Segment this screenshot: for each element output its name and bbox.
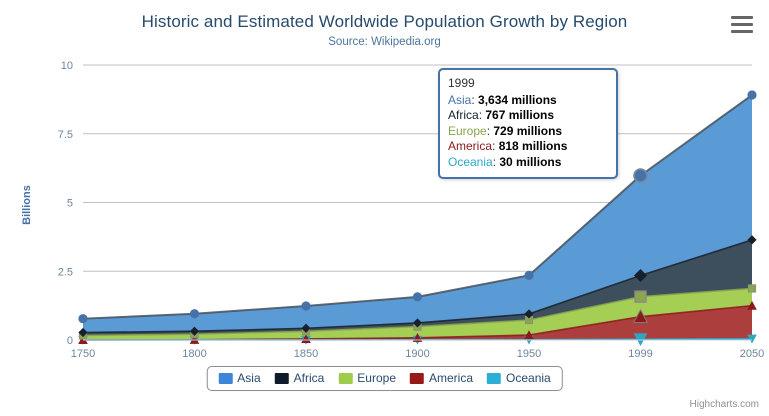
- tooltip-row: Europe: 729 millions: [448, 124, 608, 140]
- tooltip-series-name: Africa: [448, 108, 479, 122]
- x-axis-tick-label: 1999: [628, 348, 652, 360]
- legend-item-america[interactable]: America: [410, 371, 473, 385]
- y-axis-tick-label: 10: [61, 60, 73, 72]
- data-point-europe[interactable]: [635, 291, 646, 302]
- data-point-asia[interactable]: [301, 301, 310, 310]
- tooltip-rows: Asia: 3,634 millionsAfrica: 767 millions…: [448, 93, 608, 171]
- data-point-asia[interactable]: [78, 314, 87, 323]
- tooltip-series-name: America: [448, 139, 492, 153]
- x-axis-tick-label: 1800: [182, 348, 206, 360]
- legend-item-label: Europe: [357, 371, 396, 385]
- legend-item-label: Asia: [237, 371, 260, 385]
- tooltip-row: America: 818 millions: [448, 139, 608, 155]
- legend-swatch-icon: [218, 373, 232, 384]
- x-axis-tick-label: 1950: [517, 348, 541, 360]
- legend-item-asia[interactable]: Asia: [218, 371, 260, 385]
- data-point-asia[interactable]: [634, 169, 647, 182]
- legend-item-oceania[interactable]: Oceania: [487, 371, 551, 385]
- tooltip-row: Africa: 767 millions: [448, 108, 608, 124]
- data-point-asia[interactable]: [413, 292, 422, 301]
- highcharts-container: Historic and Estimated Worldwide Populat…: [0, 0, 769, 416]
- x-axis-tick-label: 1750: [71, 348, 95, 360]
- tooltip-series-value: 3,634 millions: [478, 93, 557, 107]
- x-axis-tick-label: 1900: [405, 348, 429, 360]
- data-point-asia[interactable]: [747, 90, 756, 99]
- tooltip-series-name: Asia: [448, 93, 471, 107]
- x-axis-tick-label: 1850: [294, 348, 318, 360]
- tooltip: 1999 Asia: 3,634 millionsAfrica: 767 mil…: [438, 68, 618, 179]
- data-point-asia[interactable]: [524, 271, 533, 280]
- tooltip-series-name: Europe: [448, 124, 487, 138]
- chart-legend: AsiaAfricaEuropeAmericaOceania: [206, 366, 562, 391]
- legend-item-label: Africa: [294, 371, 325, 385]
- tooltip-series-value: 767 millions: [485, 108, 554, 122]
- credits-link[interactable]: Highcharts.com: [690, 399, 759, 410]
- y-axis-tick-label: 2.5: [58, 266, 73, 278]
- data-point-asia[interactable]: [190, 309, 199, 318]
- plot-area: 02.557.510Billions1750180018501900195019…: [0, 0, 769, 416]
- x-axis-tick-label: 2050: [740, 348, 764, 360]
- legend-item-label: America: [429, 371, 473, 385]
- legend-swatch-icon: [338, 373, 352, 384]
- chart-svg: 02.557.510Billions1750180018501900195019…: [0, 0, 769, 416]
- tooltip-separator: :: [492, 139, 499, 153]
- tooltip-series-value: 30 millions: [499, 155, 561, 169]
- tooltip-row: Oceania: 30 millions: [448, 155, 608, 171]
- y-axis-tick-label: 5: [67, 198, 73, 210]
- tooltip-series-name: Oceania: [448, 155, 493, 169]
- tooltip-header: 1999: [448, 76, 608, 93]
- legend-item-label: Oceania: [506, 371, 551, 385]
- tooltip-separator: :: [471, 93, 478, 107]
- y-axis-tick-label: 0: [67, 335, 73, 347]
- legend-item-africa[interactable]: Africa: [275, 371, 325, 385]
- legend-swatch-icon: [410, 373, 424, 384]
- y-axis-tick-label: 7.5: [58, 129, 73, 141]
- legend-swatch-icon: [487, 373, 501, 384]
- tooltip-row: Asia: 3,634 millions: [448, 93, 608, 109]
- legend-swatch-icon: [275, 373, 289, 384]
- tooltip-series-value: 818 millions: [499, 139, 568, 153]
- y-axis-title: Billions: [21, 185, 33, 225]
- legend-item-europe[interactable]: Europe: [338, 371, 396, 385]
- data-point-europe[interactable]: [748, 285, 755, 292]
- tooltip-series-value: 729 millions: [493, 124, 562, 138]
